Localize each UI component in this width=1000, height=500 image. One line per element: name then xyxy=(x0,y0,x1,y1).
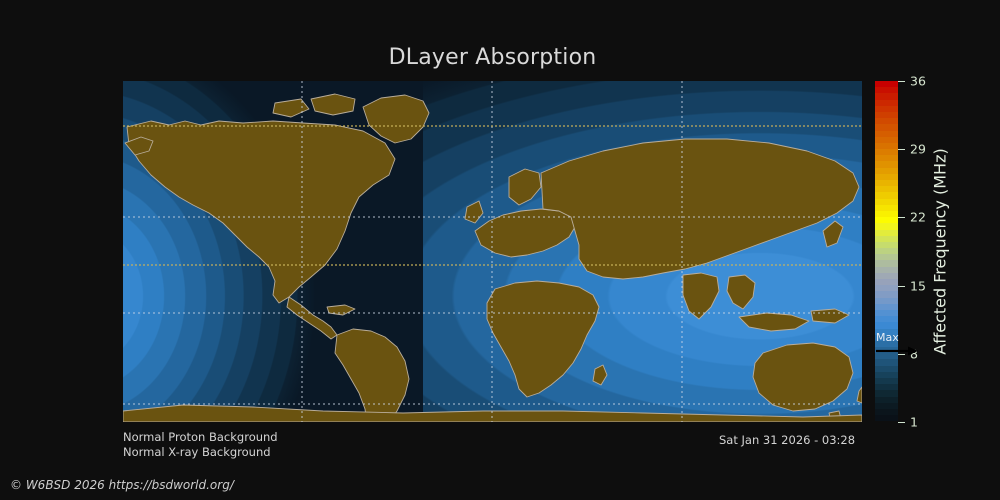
colorbar-tick xyxy=(898,81,905,82)
colorbar-tick-label: 36 xyxy=(910,74,926,89)
colorbar-axis-label-text: Affected Frequency (MHz) xyxy=(931,148,950,354)
colorbar-tick xyxy=(898,354,905,355)
colorbar-tick xyxy=(898,286,905,287)
colorbar[interactable] xyxy=(875,81,898,422)
colorbar-tick-label: 22 xyxy=(910,210,926,225)
status-block: Normal Proton Background Normal X-ray Ba… xyxy=(123,430,278,460)
page-title: DLayer Absorption xyxy=(123,45,862,70)
map-svg xyxy=(123,81,862,422)
colorbar-tick-label: 1 xyxy=(910,415,918,430)
colorbar-tick xyxy=(898,149,905,150)
figure-canvas: DLayer Absorption xyxy=(0,0,1000,500)
colorbar-tick-label: 29 xyxy=(910,142,926,157)
colorbar-band xyxy=(875,415,898,421)
status-xray-background: Normal X-ray Background xyxy=(123,445,278,460)
colorbar-tick-label: 15 xyxy=(910,278,926,293)
colorbar-tick-label: 8 xyxy=(910,346,918,361)
colorbar-tick xyxy=(898,422,905,423)
world-map[interactable] xyxy=(123,81,862,422)
colorbar-tick xyxy=(898,217,905,218)
timestamp: Sat Jan 31 2026 - 03:28 xyxy=(719,433,855,447)
colorbar-axis-label: Affected Frequency (MHz) xyxy=(925,81,955,422)
copyright-notice: © W6BSD 2026 https://bsdworld.org/ xyxy=(10,478,234,492)
status-proton-background: Normal Proton Background xyxy=(123,430,278,445)
